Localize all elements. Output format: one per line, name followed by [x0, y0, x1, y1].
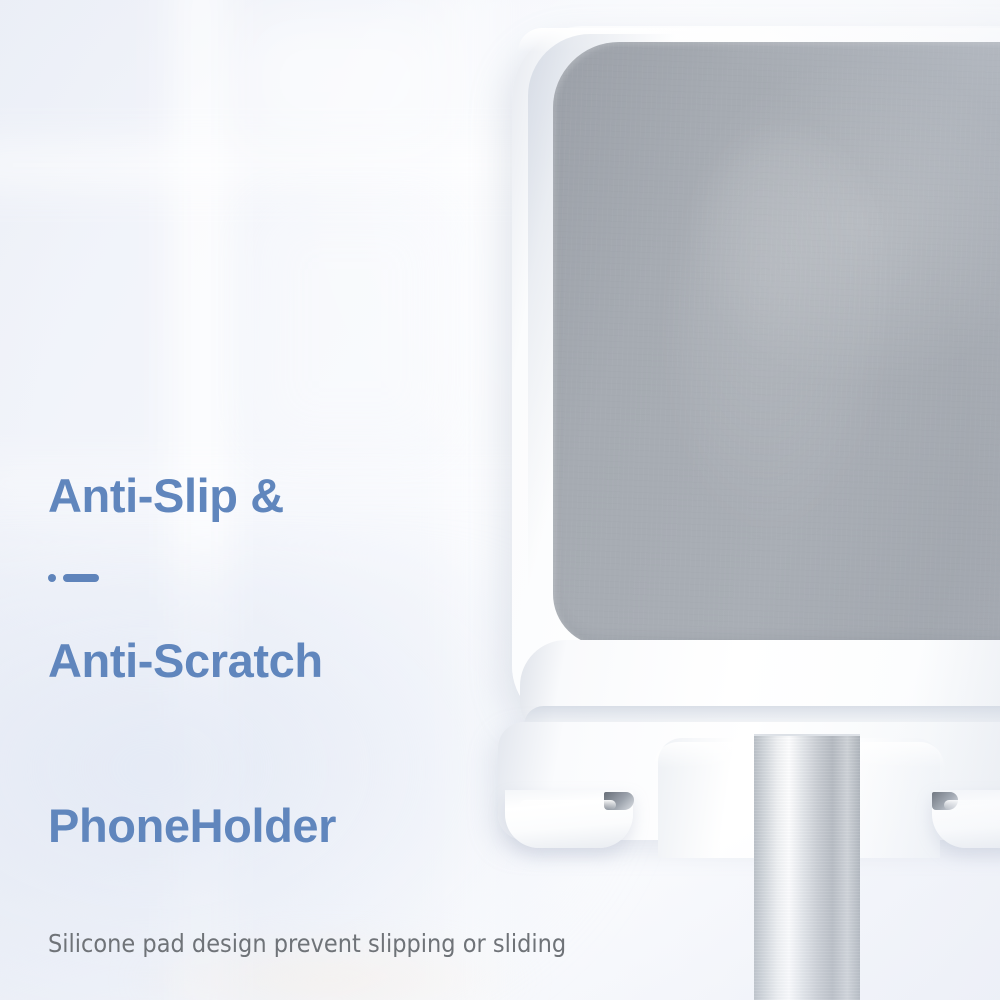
headline-line-1: Anti-Slip &: [48, 468, 336, 523]
divider-bar-icon: [63, 574, 99, 582]
headline-line-3: PhoneHolder: [48, 798, 336, 853]
subcopy-line-1: Silicone pad design prevent slipping or …: [48, 926, 647, 961]
divider-dot-icon: [48, 574, 56, 582]
product-aluminum-brush-texture: [754, 736, 860, 1000]
product-silicone-pad: [553, 42, 1000, 646]
headline-line-2: Anti-Scratch: [48, 633, 336, 688]
decorative-divider: [48, 574, 99, 582]
product-marketing-poster: Anti-Slip & Anti-Scratch PhoneHolder Sil…: [0, 0, 1000, 1000]
feature-subcopy: Silicone pad design prevent slipping or …: [48, 856, 647, 1000]
product-silicone-lip-left-gloss: [520, 800, 616, 810]
product-silicone-pad-sheen: [673, 132, 903, 552]
product-aluminum-stem: [754, 736, 860, 1000]
product-silicone-lip-right-gloss: [944, 800, 1000, 810]
